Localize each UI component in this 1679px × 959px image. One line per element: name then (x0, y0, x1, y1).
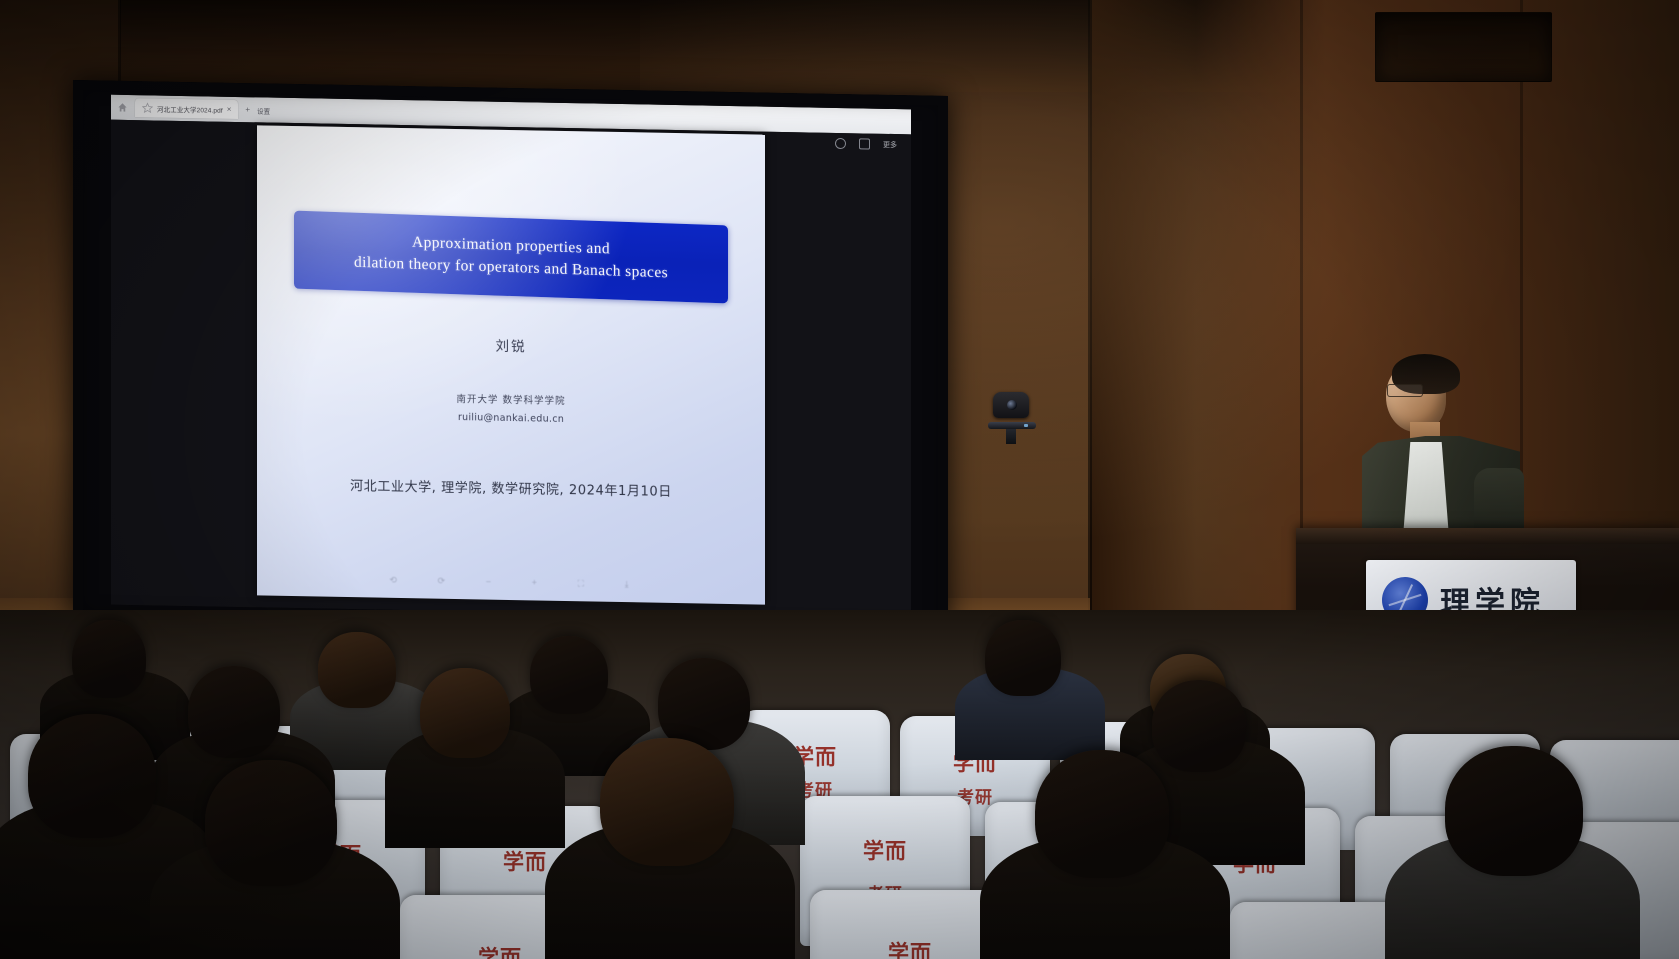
pdf-viewer-toolbar[interactable]: 更多 (835, 138, 897, 150)
audience-head (985, 620, 1061, 696)
chair-logo-main: 学而 (478, 942, 522, 959)
audience-head (1445, 746, 1583, 876)
pdf-slide-page: Approximation properties and dilation th… (257, 125, 765, 604)
thumbnail-grid-icon[interactable] (859, 138, 870, 149)
camera-led-icon (1024, 424, 1028, 427)
conference-camera (988, 392, 1036, 444)
slide-venue-date: 河北工业大学, 理学院, 数学研究院, 2024年1月10日 (257, 473, 765, 501)
ceiling-vent (1375, 12, 1552, 82)
slide-title-line-2: dilation theory for operators and Banach… (354, 252, 668, 285)
lecture-hall-photo: 河北工业大学2024.pdf × + 设置 更多 Approximatio (0, 0, 1679, 959)
audience-head (28, 714, 156, 838)
browser-tab[interactable]: 河北工业大学2024.pdf × (135, 98, 238, 119)
browser-settings-label[interactable]: 设置 (257, 105, 270, 115)
projection-surface: 河北工业大学2024.pdf × + 设置 更多 Approximatio (73, 80, 948, 636)
audience-head (318, 632, 396, 708)
fit-page-icon[interactable] (835, 138, 846, 149)
audience-area: 学而 考研 学而 考研 学而 考研 学而 考研 学而 考研 学而 考研 学 (0, 610, 1679, 959)
speaker-presenter (1352, 356, 1530, 546)
camera-body (993, 392, 1029, 418)
slide-affiliation: 南开大学 数学科学学院 (257, 387, 765, 410)
slide-email: ruiliu@nankai.edu.cn (257, 408, 765, 428)
browser-window[interactable]: 河北工业大学2024.pdf × + 设置 更多 Approximatio (111, 95, 911, 620)
zoom-out-icon[interactable]: − (486, 577, 491, 587)
projection-screen: 河北工业大学2024.pdf × + 设置 更多 Approximatio (73, 80, 948, 636)
audience-head (600, 738, 734, 866)
browser-tab-title: 河北工业大学2024.pdf (157, 103, 223, 114)
pdf-more-label[interactable]: 更多 (883, 139, 897, 149)
slide-author: 刘锐 (257, 330, 765, 359)
audience-head (420, 668, 510, 758)
star-icon[interactable] (142, 102, 153, 113)
fullscreen-icon[interactable]: ⛶ (578, 578, 584, 589)
rotate-right-icon[interactable]: ⟳ (438, 575, 446, 586)
zoom-in-icon[interactable]: + (532, 577, 537, 587)
camera-stand (1006, 429, 1016, 444)
camera-lens-icon (1007, 400, 1017, 410)
camera-mount-bar (988, 422, 1036, 429)
pdf-page-controls[interactable]: ⟲ ⟳ − + ⛶ ⤓ (369, 569, 649, 594)
chair-logo-main: 学而 (863, 835, 907, 865)
download-icon[interactable]: ⤓ (625, 579, 629, 590)
chair-logo-main: 学而 (888, 937, 932, 959)
audience-head (1152, 680, 1246, 772)
audience-head (658, 658, 750, 750)
tab-close-icon[interactable]: × (227, 105, 232, 113)
lectern-top (1296, 528, 1679, 544)
pdf-viewer[interactable]: 更多 Approximation properties and dilation… (111, 120, 911, 620)
rotate-left-icon[interactable]: ⟲ (389, 574, 397, 585)
chair-logo-main: 学而 (503, 846, 547, 876)
audience-head (72, 620, 146, 698)
home-icon[interactable] (117, 102, 128, 113)
slide-title-banner: Approximation properties and dilation th… (294, 211, 728, 304)
audience-head (1035, 750, 1169, 878)
speaker-glasses (1387, 384, 1423, 397)
audience-head (188, 666, 280, 758)
audience-head (205, 760, 337, 886)
new-tab-icon[interactable]: + (245, 106, 250, 114)
audience-head (530, 636, 608, 714)
